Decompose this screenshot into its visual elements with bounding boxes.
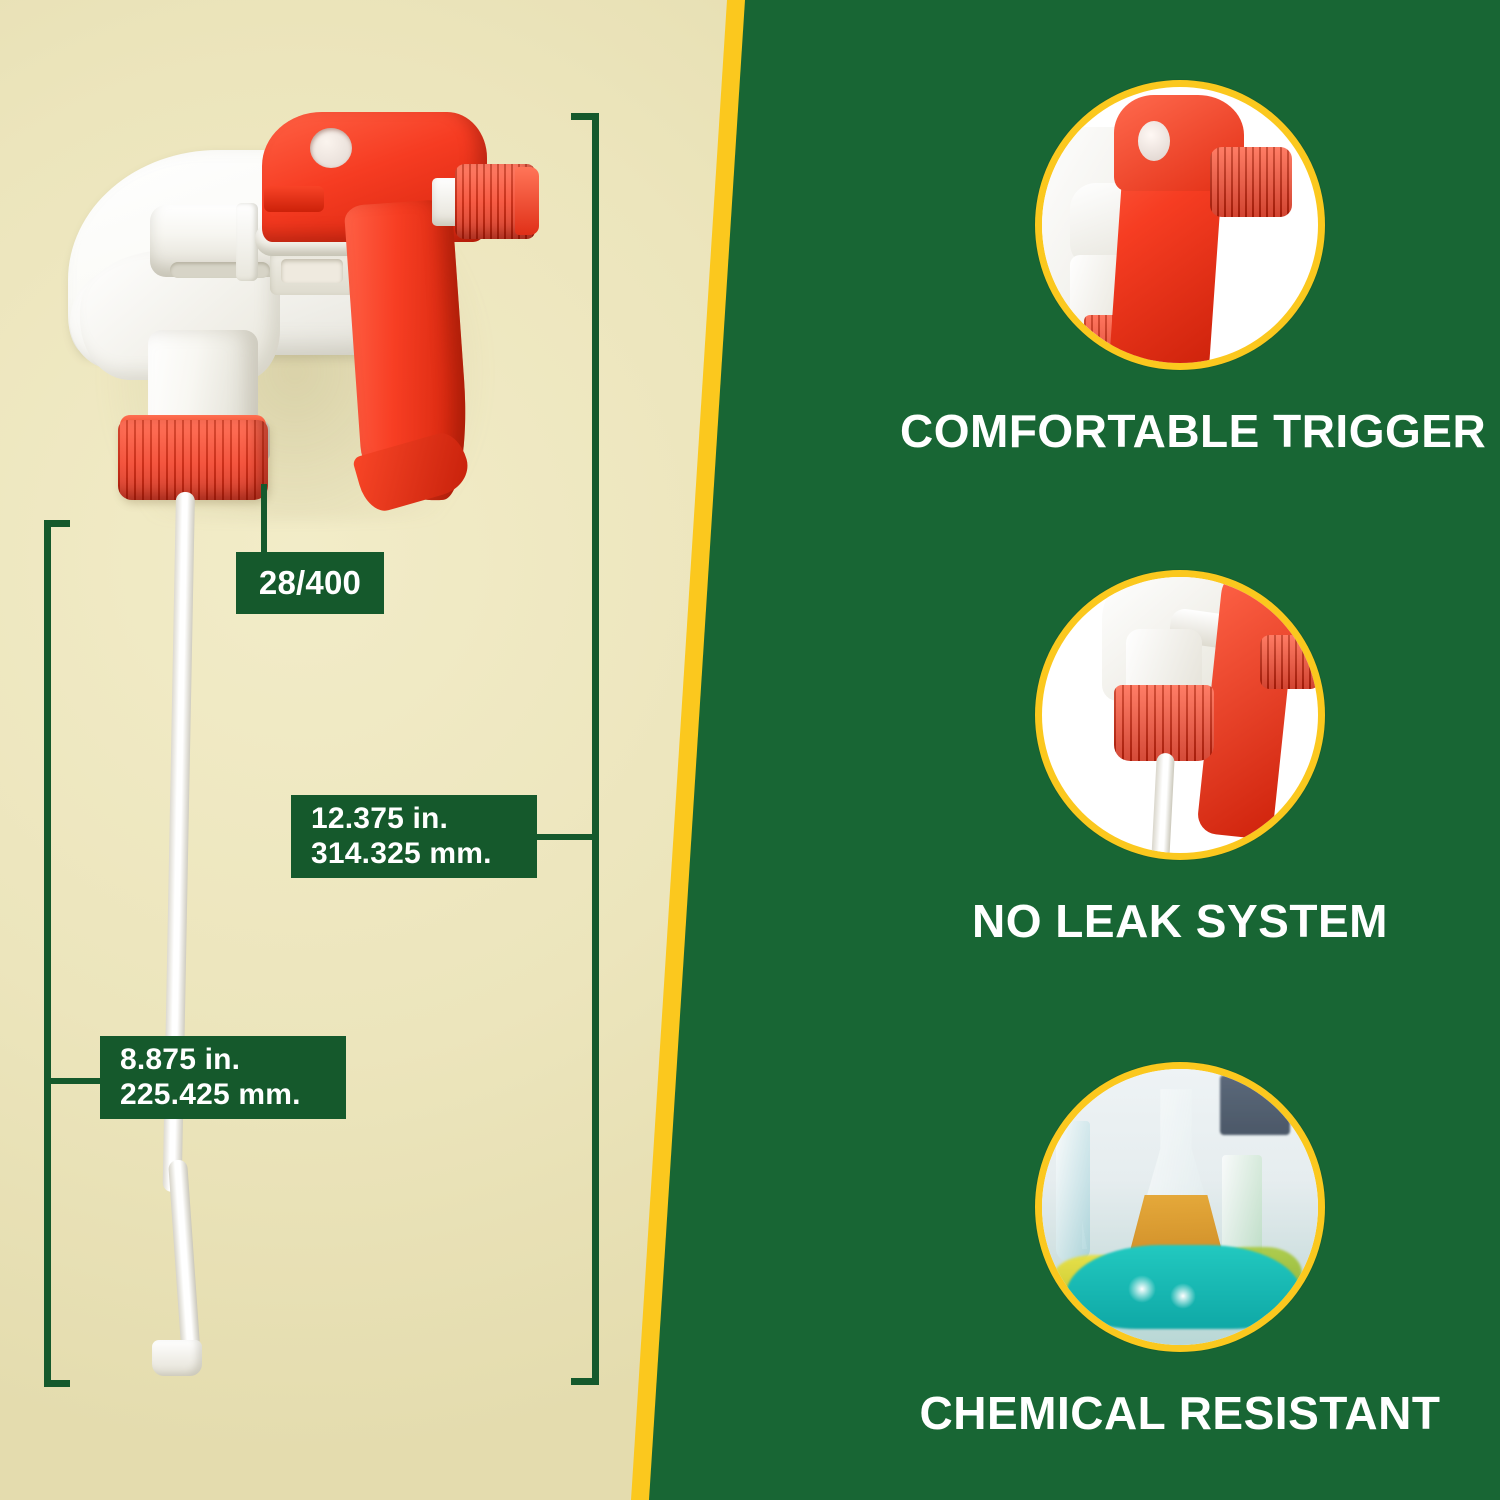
lab-highlight-1 bbox=[1128, 1275, 1156, 1303]
feature-2-ring bbox=[1035, 570, 1325, 860]
feature-2-title: NO LEAK SYSTEM bbox=[900, 894, 1460, 948]
lab-dark-equipment-icon bbox=[1220, 1075, 1290, 1135]
lab-highlight-2 bbox=[1170, 1283, 1196, 1309]
label-overall-length-mm: 314.325 mm. bbox=[311, 837, 537, 871]
overall-length-rail bbox=[592, 115, 599, 1385]
dip-tube-length-leader-line bbox=[47, 1078, 107, 1084]
neck-finish-leader-line bbox=[261, 484, 267, 552]
closeup-trigger-pivot-icon bbox=[1138, 121, 1170, 161]
lab-test-tube-blue-icon bbox=[1056, 1121, 1090, 1261]
overall-length-tick-bottom bbox=[571, 1378, 599, 1385]
trigger-pivot-hole bbox=[310, 128, 352, 168]
label-neck-finish-text: 28/400 bbox=[259, 564, 361, 602]
feature-1-title: COMFORTABLE TRIGGER bbox=[900, 404, 1460, 458]
closure-dip-tube-icon bbox=[1151, 753, 1175, 853]
dip-tube-lower bbox=[168, 1159, 200, 1350]
trigger-notch bbox=[264, 186, 324, 212]
label-overall-length-inches: 12.375 in. bbox=[311, 802, 537, 836]
feature-3-title: CHEMICAL RESISTANT bbox=[900, 1386, 1460, 1440]
red-closure-cap bbox=[118, 420, 268, 500]
label-dip-tube-length-mm: 225.425 mm. bbox=[120, 1078, 346, 1112]
feature-3-photo bbox=[1042, 1069, 1318, 1345]
dip-tube-length-rail bbox=[44, 522, 51, 1387]
dip-tube-foot bbox=[152, 1340, 202, 1376]
feature-3-ring bbox=[1035, 1062, 1325, 1352]
overall-length-tick-top bbox=[571, 113, 599, 120]
feature-comfortable-trigger: COMFORTABLE TRIGGER bbox=[900, 80, 1460, 458]
closeup-nozzle-knob-icon bbox=[1210, 147, 1292, 217]
nozzle-knob-face bbox=[515, 167, 539, 235]
dip-tube-length-tick-top bbox=[44, 520, 70, 527]
feature-1-photo bbox=[1042, 87, 1318, 363]
closure-red-cap-icon bbox=[1114, 685, 1214, 761]
dip-tube-length-tick-bottom bbox=[44, 1380, 70, 1387]
infographic-canvas: 28/400 12.375 in. 314.325 mm. 8.875 in. … bbox=[0, 0, 1500, 1500]
label-overall-length: 12.375 in. 314.325 mm. bbox=[291, 795, 537, 878]
feature-2-photo bbox=[1042, 577, 1318, 853]
feature-chemical-resistant: CHEMICAL RESISTANT bbox=[900, 1062, 1460, 1440]
feature-1-ring bbox=[1035, 80, 1325, 370]
label-neck-finish: 28/400 bbox=[236, 552, 384, 614]
feature-no-leak-system: NO LEAK SYSTEM bbox=[900, 570, 1460, 948]
label-dip-tube-length-inches: 8.875 in. bbox=[120, 1043, 346, 1077]
closure-knob-icon bbox=[1260, 635, 1318, 689]
label-dip-tube-length: 8.875 in. 225.425 mm. bbox=[100, 1036, 346, 1119]
